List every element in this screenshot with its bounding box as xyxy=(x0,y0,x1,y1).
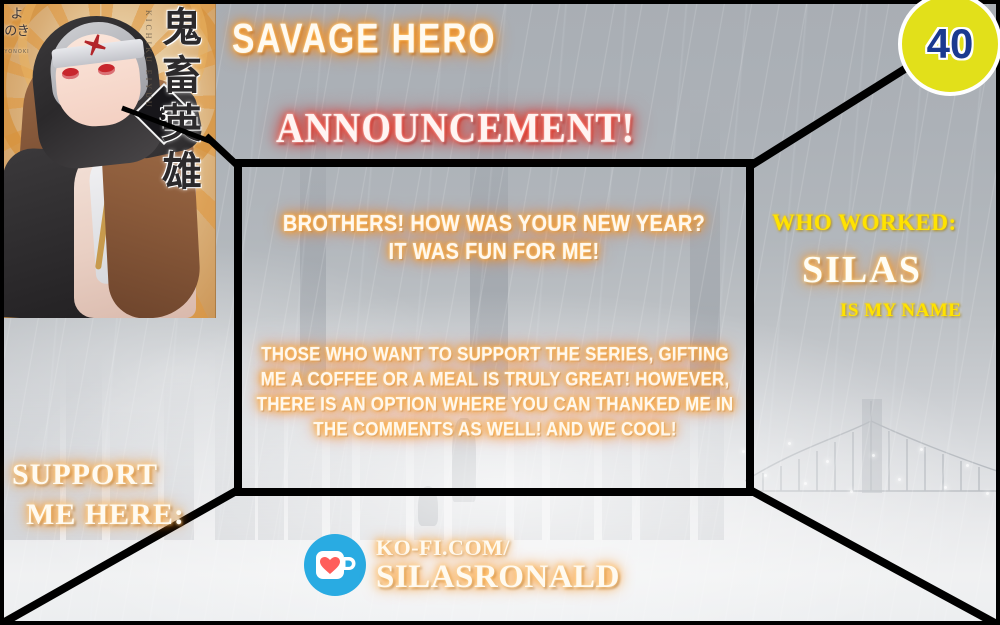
page-number-text: 40 xyxy=(927,20,974,68)
kofi-logo-icon[interactable] xyxy=(304,534,366,596)
cover-romaji-title: KICHIKU EIYUU xyxy=(144,10,153,110)
kofi-username[interactable]: SILASRONALD xyxy=(376,561,620,594)
cover-japanese-title: 鬼畜英雄 xyxy=(153,4,211,304)
credits-name: SILAS xyxy=(802,248,922,292)
greeting-line-2: IT WAS FUN FOR ME! xyxy=(244,236,744,268)
kofi-link[interactable]: KO-FI.COM/ SILASRONALD xyxy=(304,534,620,596)
kofi-url[interactable]: KO-FI.COM/ xyxy=(376,537,620,559)
support-label-line-1: SUPPORT xyxy=(12,458,158,492)
cover-author-name-text: よのき xyxy=(4,7,30,39)
cover-author-romaji: YONOKI xyxy=(4,44,30,61)
credits-name-suffix: IS MY NAME xyxy=(840,300,961,322)
credits-label: WHO WORKED: xyxy=(772,210,957,236)
volume-cover-art: 3 KICHIKU EIYUU 鬼畜英雄 よのき YONOKI xyxy=(0,0,216,318)
support-message-block: THOSE WHO WANT TO SUPPORT THE SERIES, GI… xyxy=(250,340,740,440)
series-title: SAVAGE HERO xyxy=(232,16,496,63)
kofi-text-group: KO-FI.COM/ SILASRONALD xyxy=(376,537,620,594)
greeting-text-block: BROTHERS! HOW WAS YOUR NEW YEAR? IT WAS … xyxy=(244,208,744,264)
support-label-line-2: ME HERE: xyxy=(26,498,185,532)
comic-announcement-page: 3 KICHIKU EIYUU 鬼畜英雄 よのき YONOKI SAVAGE H… xyxy=(0,0,1000,625)
page-number-badge: 40 xyxy=(898,0,1000,96)
cover-author-name: よのき YONOKI xyxy=(4,6,30,61)
support-message-line-4: THE COMMENTS AS WELL! AND WE COOL! xyxy=(250,415,740,444)
announcement-headline: ANNOUNCEMENT! xyxy=(276,104,635,153)
